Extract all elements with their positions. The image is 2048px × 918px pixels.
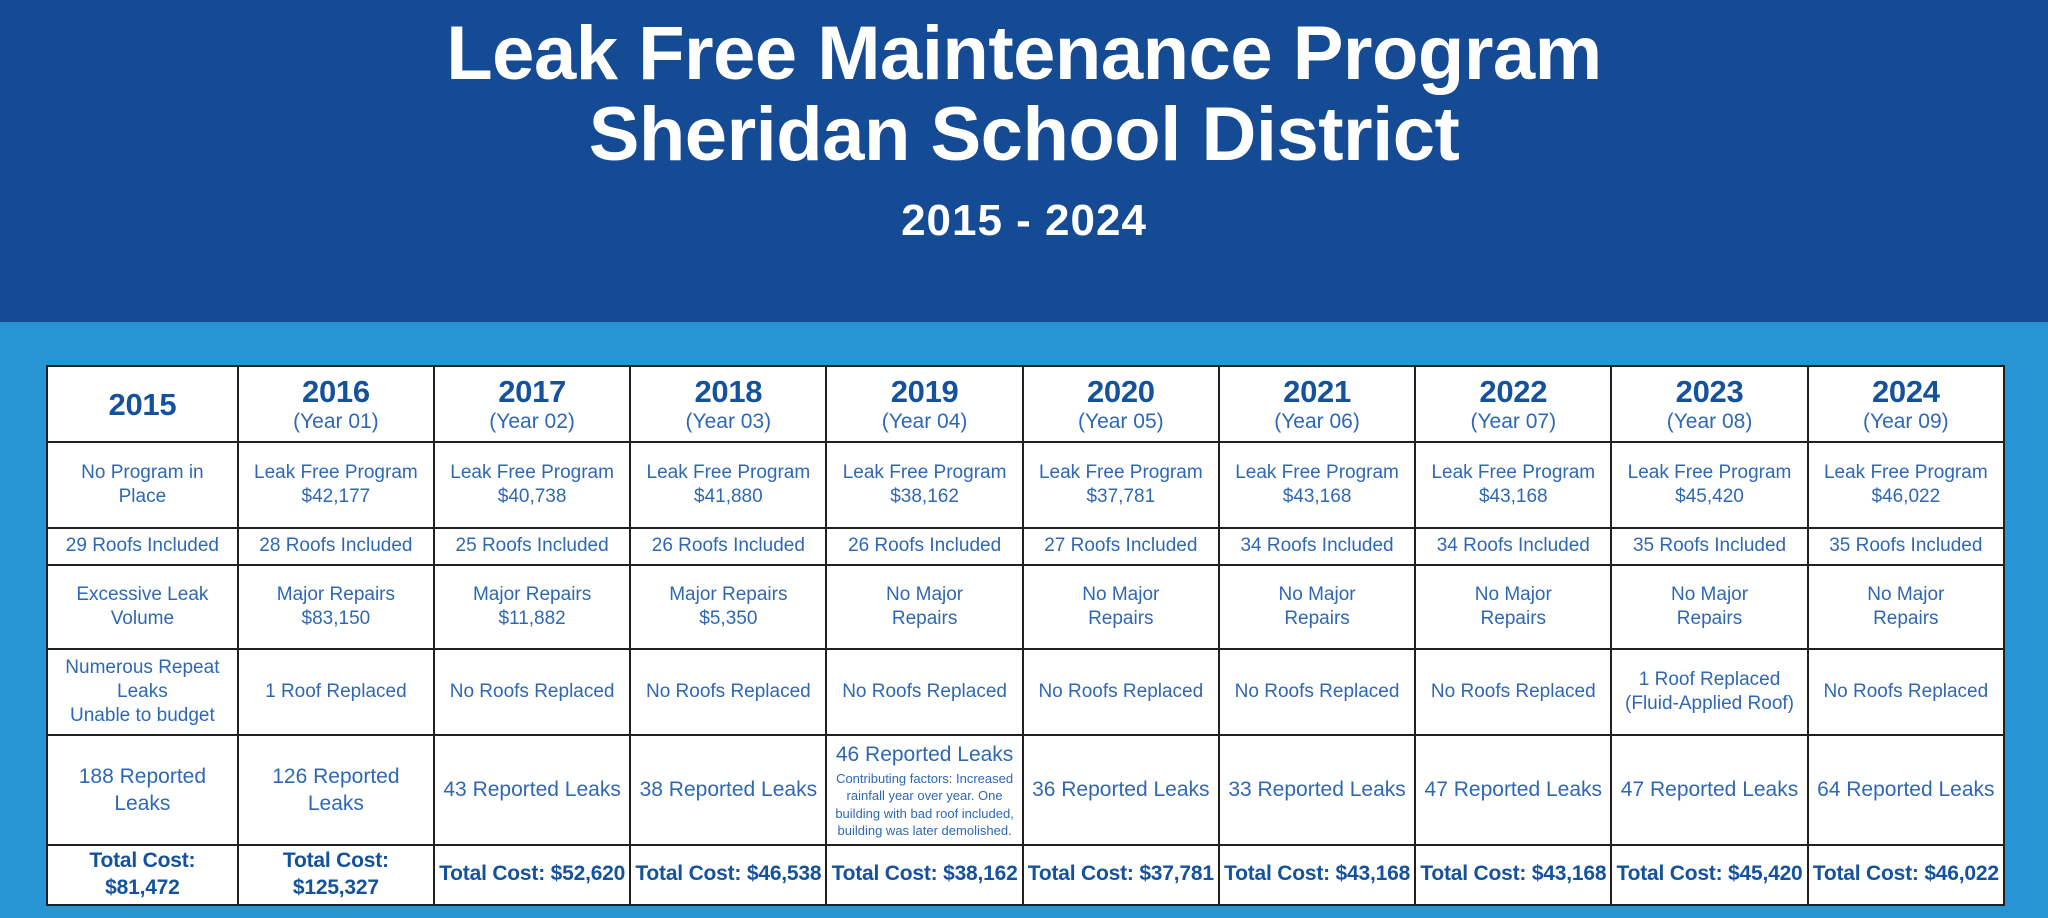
major-repairs-cell: No MajorRepairs [826,565,1022,649]
year-header-cell: 2016(Year 01) [238,366,434,442]
program-amount: Place [51,485,234,509]
reported-leaks-count: 47 Reported Leaks [1615,776,1803,803]
program-amount: $38,162 [830,485,1018,509]
reported-leaks-cell: 126 Reported Leaks [238,735,434,845]
total-cost-cell: Total Cost: $43,168 [1219,845,1415,905]
repairs-label: Major Repairs [634,583,822,607]
total-cost-cell: Total Cost: $46,538 [630,845,826,905]
total-cost-cell: Total Cost: $46,022 [1808,845,2004,905]
repairs-amount: Repairs [830,607,1018,631]
major-repairs-cell: Excessive LeakVolume [47,565,238,649]
roofs-included-cell: 26 Roofs Included [826,528,1022,565]
replaced-label: No Roofs Replaced [438,680,626,704]
program-name: No Program in [51,461,234,485]
repairs-amount: Repairs [1419,607,1607,631]
program-name: Leak Free Program [242,461,430,485]
program-cost-cell: Leak Free Program$45,420 [1611,442,1807,528]
program-cost-cell: Leak Free Program$37,781 [1023,442,1219,528]
total-cost-cell: Total Cost: $37,781 [1023,845,1219,905]
poster-root: Leak Free Maintenance Program Sheridan S… [0,0,2048,918]
reported-leaks-count: 188 Reported Leaks [51,763,234,818]
year-program-label: (Year 05) [1027,409,1215,434]
table-row-reported-leaks: 188 Reported Leaks126 Reported Leaks43 R… [47,735,2004,845]
reported-leaks-count: 43 Reported Leaks [438,776,626,803]
repairs-amount: Repairs [1812,607,2000,631]
table-row-major-repairs: Excessive LeakVolumeMajor Repairs$83,150… [47,565,2004,649]
roofs-replaced-cell: No Roofs Replaced [1023,649,1219,735]
reported-leaks-cell: 33 Reported Leaks [1219,735,1415,845]
roofs-replaced-cell: No Roofs Replaced [1808,649,2004,735]
reported-leaks-count: 64 Reported Leaks [1812,776,2000,803]
roofs-replaced-cell: No Roofs Replaced [630,649,826,735]
program-cost-cell: Leak Free Program$43,168 [1219,442,1415,528]
major-repairs-cell: Major Repairs$83,150 [238,565,434,649]
repairs-label: Major Repairs [242,583,430,607]
roofs-included-cell: 29 Roofs Included [47,528,238,565]
leak-free-program-table: 20152016(Year 01)2017(Year 02)2018(Year … [46,365,2005,906]
reported-leaks-cell: 38 Reported Leaks [630,735,826,845]
program-amount: $46,022 [1812,485,2000,509]
year-header-cell: 2015 [47,366,238,442]
year-program-label: (Year 03) [634,409,822,434]
program-cost-cell: Leak Free Program$42,177 [238,442,434,528]
reported-leaks-cell: 47 Reported Leaks [1415,735,1611,845]
total-cost-cell: Total Cost: $52,620 [434,845,630,905]
program-name: Leak Free Program [1812,461,2000,485]
program-name: Leak Free Program [830,461,1018,485]
replaced-label: No Roofs Replaced [830,680,1018,704]
year-header-cell: 2022(Year 07) [1415,366,1611,442]
replaced-label: No Roofs Replaced [1223,680,1411,704]
total-cost-cell: Total Cost: $38,162 [826,845,1022,905]
reported-leaks-count: 46 Reported Leaks [830,741,1018,768]
total-cost-cell: Total Cost: $45,420 [1611,845,1807,905]
reported-leaks-cell: 188 Reported Leaks [47,735,238,845]
repairs-label: No Major [1419,583,1607,607]
year-program-label: (Year 02) [438,409,626,434]
total-cost-cell: Total Cost: $81,472 [47,845,238,905]
data-table-wrapper: 20152016(Year 01)2017(Year 02)2018(Year … [46,365,2005,882]
major-repairs-cell: No MajorRepairs [1808,565,2004,649]
roofs-included-cell: 28 Roofs Included [238,528,434,565]
replaced-label: No Roofs Replaced [1419,680,1607,704]
roofs-included-cell: 26 Roofs Included [630,528,826,565]
year-number: 2018 [634,376,822,409]
year-number: 2015 [51,389,234,422]
roofs-included-cell: 27 Roofs Included [1023,528,1219,565]
page-title-line-2: Sheridan School District [589,95,1460,176]
roofs-replaced-cell: 1 Roof Replaced(Fluid-Applied Roof) [1611,649,1807,735]
year-number: 2022 [1419,376,1607,409]
roofs-included-cell: 25 Roofs Included [434,528,630,565]
major-repairs-cell: No MajorRepairs [1219,565,1415,649]
reported-leaks-count: 47 Reported Leaks [1419,776,1607,803]
roofs-replaced-cell: 1 Roof Replaced [238,649,434,735]
replaced-label: 1 Roof Replaced [1615,668,1803,692]
table-row-total-cost: Total Cost: $81,472Total Cost: $125,327T… [47,845,2004,905]
program-amount: $43,168 [1223,485,1411,509]
replaced-label: No Roofs Replaced [1812,680,2000,704]
year-number: 2024 [1812,376,2000,409]
year-header-cell: 2023(Year 08) [1611,366,1807,442]
year-program-label: (Year 06) [1223,409,1411,434]
reported-leaks-note: Contributing factors: Increased rainfall… [830,770,1018,839]
year-header-cell: 2019(Year 04) [826,366,1022,442]
reported-leaks-count: 33 Reported Leaks [1223,776,1411,803]
roofs-replaced-cell: No Roofs Replaced [826,649,1022,735]
year-number: 2016 [242,376,430,409]
program-cost-cell: Leak Free Program$38,162 [826,442,1022,528]
year-header-cell: 2017(Year 02) [434,366,630,442]
repairs-amount: Repairs [1615,607,1803,631]
roofs-replaced-cell: Numerous Repeat LeaksUnable to budget [47,649,238,735]
replaced-detail: (Fluid-Applied Roof) [1615,692,1803,716]
table-row-year-header: 20152016(Year 01)2017(Year 02)2018(Year … [47,366,2004,442]
program-amount: $40,738 [438,485,626,509]
repairs-label: No Major [1223,583,1411,607]
roofs-included-cell: 35 Roofs Included [1808,528,2004,565]
program-cost-cell: Leak Free Program$46,022 [1808,442,2004,528]
program-name: Leak Free Program [438,461,626,485]
repairs-label: No Major [830,583,1018,607]
program-name: Leak Free Program [1419,461,1607,485]
year-number: 2019 [830,376,1018,409]
table-row-roofs-replaced: Numerous Repeat LeaksUnable to budget1 R… [47,649,2004,735]
roofs-included-cell: 34 Roofs Included [1219,528,1415,565]
year-program-label: (Year 04) [830,409,1018,434]
program-name: Leak Free Program [1223,461,1411,485]
year-program-label: (Year 07) [1419,409,1607,434]
program-name: Leak Free Program [1027,461,1215,485]
program-cost-cell: Leak Free Program$43,168 [1415,442,1611,528]
replaced-label: No Roofs Replaced [634,680,822,704]
page-subtitle-years: 2015 - 2024 [901,197,1147,245]
reported-leaks-cell: 46 Reported LeaksContributing factors: I… [826,735,1022,845]
roofs-replaced-cell: No Roofs Replaced [434,649,630,735]
total-cost-cell: Total Cost: $125,327 [238,845,434,905]
replaced-label: Numerous Repeat Leaks [51,656,234,705]
program-name: Leak Free Program [634,461,822,485]
year-number: 2023 [1615,376,1803,409]
major-repairs-cell: Major Repairs$11,882 [434,565,630,649]
repairs-amount: $5,350 [634,607,822,631]
major-repairs-cell: No MajorRepairs [1611,565,1807,649]
reported-leaks-count: 36 Reported Leaks [1027,776,1215,803]
reported-leaks-count: 126 Reported Leaks [242,763,430,818]
program-cost-cell: Leak Free Program$41,880 [630,442,826,528]
program-cost-cell: Leak Free Program$40,738 [434,442,630,528]
roofs-included-cell: 34 Roofs Included [1415,528,1611,565]
reported-leaks-count: 38 Reported Leaks [634,776,822,803]
reported-leaks-cell: 47 Reported Leaks [1611,735,1807,845]
repairs-label: Excessive Leak [51,583,234,607]
year-number: 2017 [438,376,626,409]
total-cost-cell: Total Cost: $43,168 [1415,845,1611,905]
reported-leaks-cell: 36 Reported Leaks [1023,735,1219,845]
repairs-amount: $11,882 [438,607,626,631]
replaced-detail: Unable to budget [51,704,234,728]
year-program-label: (Year 08) [1615,409,1803,434]
major-repairs-cell: No MajorRepairs [1023,565,1219,649]
page-title-line-1: Leak Free Maintenance Program [446,14,1601,95]
program-amount: $41,880 [634,485,822,509]
repairs-label: Major Repairs [438,583,626,607]
program-amount: $45,420 [1615,485,1803,509]
roofs-replaced-cell: No Roofs Replaced [1415,649,1611,735]
year-number: 2021 [1223,376,1411,409]
year-header-cell: 2018(Year 03) [630,366,826,442]
year-header-cell: 2020(Year 05) [1023,366,1219,442]
replaced-label: 1 Roof Replaced [242,680,430,704]
year-number: 2020 [1027,376,1215,409]
roofs-included-cell: 35 Roofs Included [1611,528,1807,565]
program-amount: $37,781 [1027,485,1215,509]
program-name: Leak Free Program [1615,461,1803,485]
program-amount: $42,177 [242,485,430,509]
reported-leaks-cell: 43 Reported Leaks [434,735,630,845]
repairs-label: No Major [1615,583,1803,607]
repairs-label: No Major [1812,583,2000,607]
repairs-amount: $83,150 [242,607,430,631]
table-row-program-cost: No Program inPlaceLeak Free Program$42,1… [47,442,2004,528]
year-program-label: (Year 01) [242,409,430,434]
repairs-amount: Repairs [1027,607,1215,631]
program-amount: $43,168 [1419,485,1607,509]
repairs-amount: Volume [51,607,234,631]
year-header-cell: 2021(Year 06) [1219,366,1415,442]
replaced-label: No Roofs Replaced [1027,680,1215,704]
repairs-amount: Repairs [1223,607,1411,631]
major-repairs-cell: No MajorRepairs [1415,565,1611,649]
year-header-cell: 2024(Year 09) [1808,366,2004,442]
program-cost-cell: No Program inPlace [47,442,238,528]
repairs-label: No Major [1027,583,1215,607]
header-banner: Leak Free Maintenance Program Sheridan S… [0,0,2048,322]
reported-leaks-cell: 64 Reported Leaks [1808,735,2004,845]
major-repairs-cell: Major Repairs$5,350 [630,565,826,649]
roofs-replaced-cell: No Roofs Replaced [1219,649,1415,735]
table-row-roofs-included: 29 Roofs Included28 Roofs Included25 Roo… [47,528,2004,565]
year-program-label: (Year 09) [1812,409,2000,434]
